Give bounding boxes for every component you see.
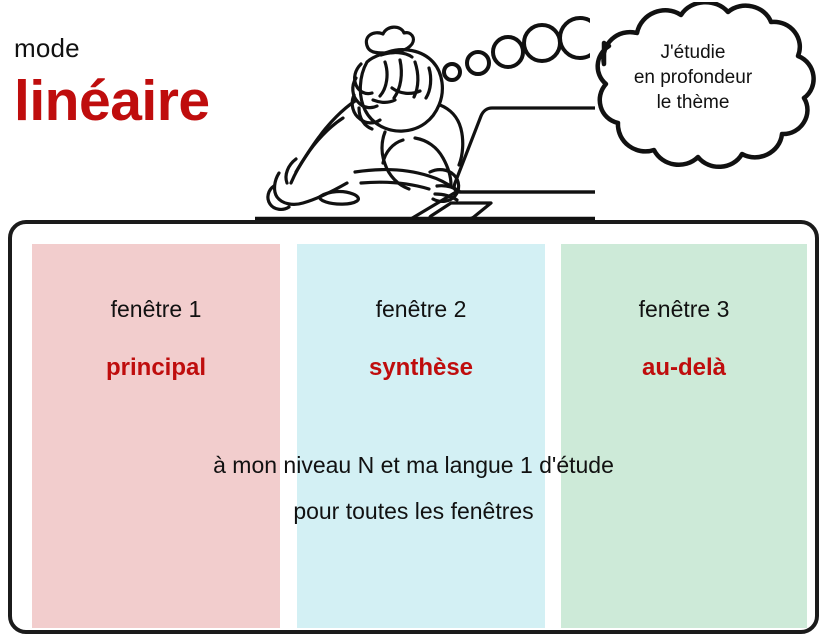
thought-line-2: en profondeur xyxy=(600,65,786,90)
panel-2-title: fenêtre 2 xyxy=(297,296,545,323)
panel-fenetre-1[interactable]: fenêtre 1 principal xyxy=(32,244,280,628)
heading-block: mode linéaire xyxy=(14,32,294,132)
thought-line-3: le thème xyxy=(600,90,786,115)
windows-container: fenêtre 1 principal fenêtre 2 synthèse f… xyxy=(8,220,819,634)
thought-line-1: J'étudie xyxy=(600,40,786,65)
mode-label: mode xyxy=(14,32,294,64)
infographic-canvas: mode linéaire xyxy=(0,0,827,644)
thought-bubble-text: J'étudie en profondeur le thème xyxy=(600,40,786,115)
panel-3-title: fenêtre 3 xyxy=(561,296,807,323)
panel-fenetre-2[interactable]: fenêtre 2 synthèse xyxy=(297,244,545,628)
panel-3-value: au-delà xyxy=(561,354,807,382)
panel-1-title: fenêtre 1 xyxy=(32,296,280,323)
mode-value: linéaire xyxy=(14,70,294,132)
panel-1-value: principal xyxy=(32,354,280,382)
panel-fenetre-3[interactable]: fenêtre 3 au-delà xyxy=(561,244,807,628)
panel-2-value: synthèse xyxy=(297,354,545,382)
